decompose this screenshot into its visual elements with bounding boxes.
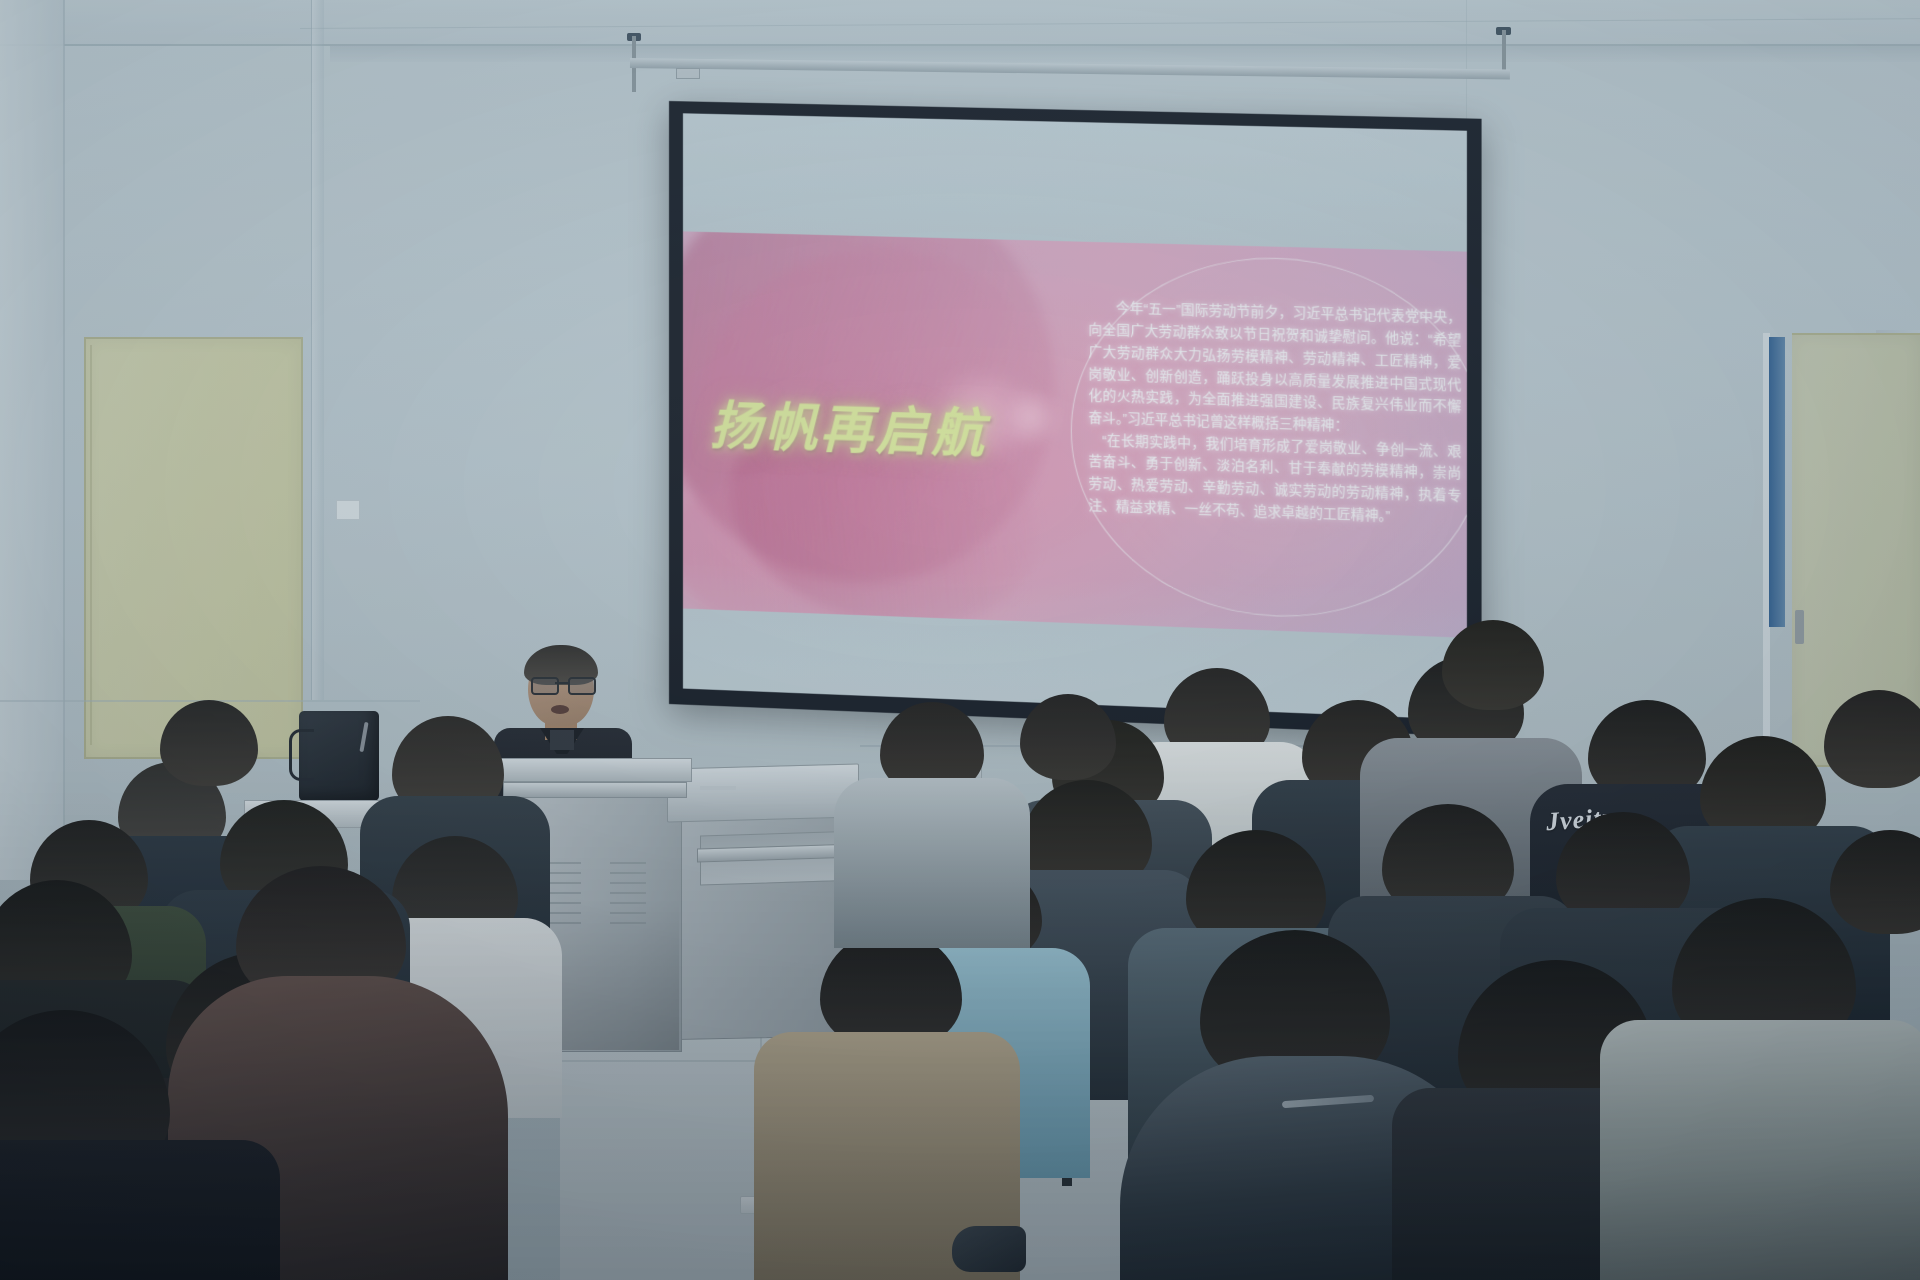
slide-paragraph: “在长期实践中，我们培育形成了爱岗敬业、争创一流、艰苦奋斗、勇于创新、淡泊名利、…	[1088, 429, 1461, 530]
lectern-top-surface	[500, 758, 692, 782]
projection-screen-surface: 扬帆再启航 今年“五一”国际劳动节前夕，习近平总书记代表党中央，向全国广大劳动群…	[683, 113, 1467, 719]
door-left-seam	[90, 345, 92, 745]
screen-mount-rod-right	[1502, 30, 1506, 72]
left-wall-corner-edge	[63, 0, 65, 900]
slide-letterbox-top	[683, 113, 1467, 251]
laptop-bag-strap	[289, 729, 314, 781]
door-right-handle[interactable]	[1795, 610, 1804, 644]
audience-body	[834, 778, 1030, 948]
ceiling-soffit	[330, 46, 1920, 62]
slide-title: 扬帆再启航	[710, 383, 1035, 469]
wall-pillar-shade	[312, 0, 324, 700]
lectern-equipment-shelf	[667, 763, 859, 822]
lecture-hall-photo: 扬帆再启航 今年“五一”国际劳动节前夕，习近平总书记代表党中央，向全国广大劳动群…	[0, 0, 1920, 1280]
lectern-keyboard-tray[interactable]	[503, 782, 687, 798]
audience-body-light-coat	[1600, 1020, 1920, 1280]
screen-mount-clip	[676, 68, 700, 79]
shoe	[952, 1226, 1026, 1272]
slide-paragraph: 今年“五一”国际劳动节前夕，习近平总书记代表党中央，向全国广大劳动群众致以节日祝…	[1088, 297, 1461, 441]
door-right-opening-gap	[1769, 337, 1785, 627]
presenter-shirt	[550, 730, 574, 750]
projection-screen[interactable]: 扬帆再启航 今年“五一”国际劳动节前夕，习近平总书记代表党中央，向全国广大劳动群…	[669, 101, 1482, 737]
presenter-mouth	[551, 705, 569, 714]
left-wall-return	[0, 0, 64, 880]
audience-body	[0, 1140, 280, 1280]
slide-content: 扬帆再启航 今年“五一”国际劳动节前夕，习近平总书记代表党中央，向全国广大劳动群…	[683, 231, 1467, 637]
door-left[interactable]	[84, 337, 303, 759]
slide-body-text: 今年“五一”国际劳动节前夕，习近平总书记代表党中央，向全国广大劳动群众致以节日祝…	[1088, 297, 1461, 530]
eyeglasses-icon	[531, 677, 592, 691]
wall-switch-plate[interactable]	[336, 500, 360, 520]
lectern-shelf-slot	[700, 786, 736, 790]
